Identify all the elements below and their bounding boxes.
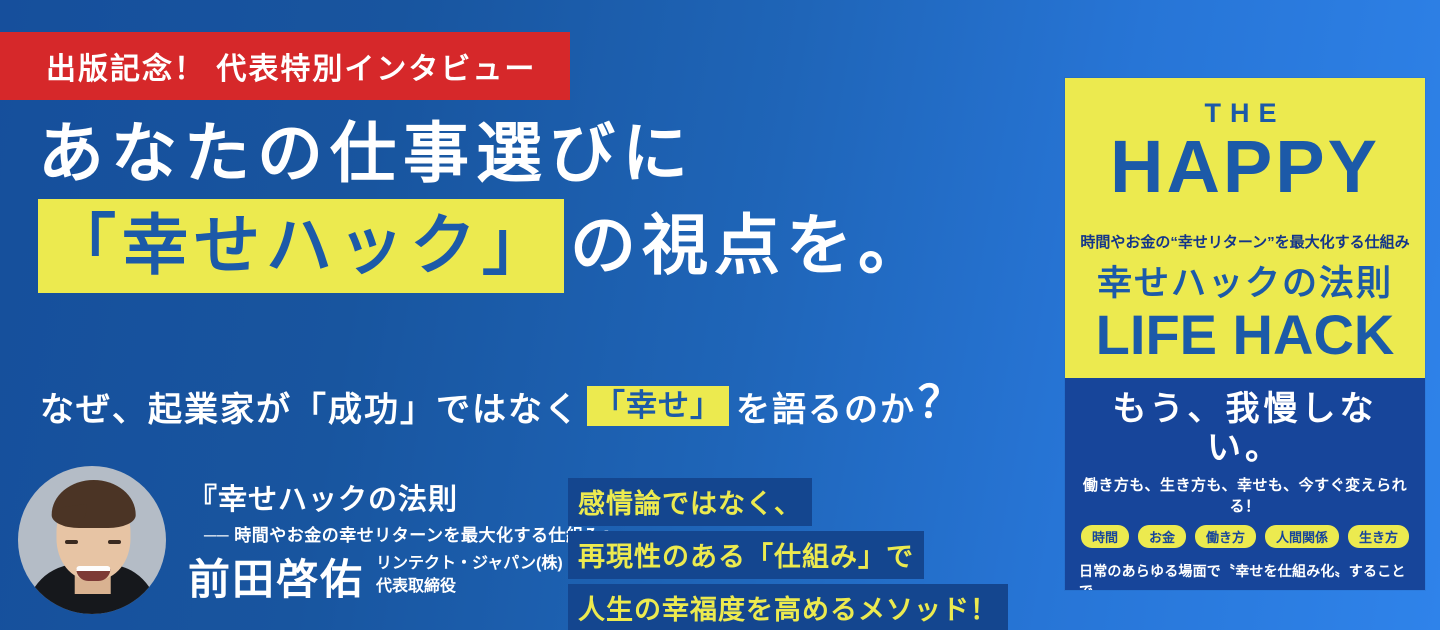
page-title: あなたの仕事選びに 「幸せハック」 の視点を。 bbox=[38, 118, 930, 293]
book-subtitle: ── 時間やお金の幸せリターンを最大化する仕組み』 bbox=[188, 521, 618, 546]
author-role: 代表取締役 bbox=[376, 575, 563, 598]
cover-big-copy: もう、我慢しない。 bbox=[1079, 390, 1411, 468]
question-mark: ？ bbox=[918, 366, 962, 430]
avatar-smile bbox=[76, 566, 110, 581]
headline-tail: の視点を。 bbox=[564, 199, 930, 293]
value-proposition-block: 感情論ではなく、 再現性のある「仕組み」で 人生の幸福度を高めるメソッド！ bbox=[568, 478, 1008, 630]
headline-line-1: あなたの仕事選びに bbox=[38, 118, 930, 189]
announcement-ribbon: 出版記念！ 代表特別インタビュー bbox=[0, 32, 570, 100]
subheadline: なぜ、起業家が「成功」ではなく 「幸せ」 を語るのか ？ bbox=[40, 374, 962, 438]
author-block: 『幸せハックの法則 ── 時間やお金の幸せリターンを最大化する仕組み』 前田啓佑… bbox=[18, 466, 618, 614]
copy-line: 感情論ではなく、 bbox=[568, 478, 812, 526]
avatar-hair bbox=[52, 480, 136, 528]
book-title: 『幸せハックの法則 bbox=[188, 476, 618, 518]
cover-lower-panel: もう、我慢しない。 働き方も、生き方も、幸せも、今すぐ変えられる！ 時間 お金 … bbox=[1065, 378, 1425, 590]
subheadline-after: を語るのか bbox=[736, 382, 916, 431]
subheadline-before: なぜ、起業家が「成功」ではなく bbox=[40, 382, 580, 431]
cover-happy: HAPPY bbox=[1065, 131, 1425, 203]
avatar bbox=[18, 466, 166, 614]
copy-line: 人生の幸福度を高めるメソッド！ bbox=[568, 584, 1008, 630]
topic-pill: お金 bbox=[1138, 525, 1186, 548]
interview-promo-banner: 出版記念！ 代表特別インタビュー あなたの仕事選びに 「幸せハック」 の視点を。… bbox=[0, 0, 1440, 630]
topic-pill: 時間 bbox=[1081, 525, 1129, 548]
author-name-row: 前田啓佑 リンテクト・ジャパン(株) 代表取締役 bbox=[188, 552, 618, 602]
headline-highlight: 「幸せハック」 bbox=[38, 199, 564, 293]
topic-pill: 人間関係 bbox=[1265, 525, 1339, 548]
book-cover[interactable]: THE HAPPY 時間やお金の“幸せリターン”を最大化する仕組み 幸せハックの… bbox=[1065, 78, 1425, 590]
author-name: 前田啓佑 bbox=[188, 558, 364, 602]
cover-kicker: 時間やお金の“幸せリターン”を最大化する仕組み bbox=[1065, 231, 1425, 252]
cover-body-text: 日常のあらゆる場面で〝幸せを仕組み化〟することで、 幸福感は偶然に左右されず、意… bbox=[1079, 561, 1411, 590]
author-details: 『幸せハックの法則 ── 時間やお金の幸せリターンを最大化する仕組み』 前田啓佑… bbox=[188, 466, 618, 602]
topic-pill: 生き方 bbox=[1348, 525, 1409, 548]
subheadline-highlight: 「幸せ」 bbox=[587, 386, 729, 426]
cover-sub-copy: 働き方も、生き方も、幸せも、今すぐ変えられる！ bbox=[1079, 474, 1411, 516]
cover-life-hack: LIFE HACK bbox=[1065, 307, 1425, 363]
ribbon-label: 出版記念！ 代表特別インタビュー bbox=[46, 44, 536, 88]
author-company: リンテクト・ジャパン(株) bbox=[376, 552, 563, 575]
avatar-eye-right bbox=[108, 540, 121, 544]
cover-japanese-title: 幸せハックの法則 bbox=[1065, 255, 1425, 306]
copy-line: 再現性のある「仕組み」で bbox=[568, 531, 924, 579]
topic-pill: 働き方 bbox=[1195, 525, 1256, 548]
headline-line-2: 「幸せハック」 の視点を。 bbox=[38, 199, 930, 293]
avatar-eye-left bbox=[65, 540, 78, 544]
cover-topic-pills: 時間 お金 働き方 人間関係 生き方 bbox=[1079, 525, 1411, 548]
author-affiliation: リンテクト・ジャパン(株) 代表取締役 bbox=[376, 552, 563, 602]
cover-body-line-1: 日常のあらゆる場面で〝幸せを仕組み化〟することで、 bbox=[1079, 561, 1411, 590]
